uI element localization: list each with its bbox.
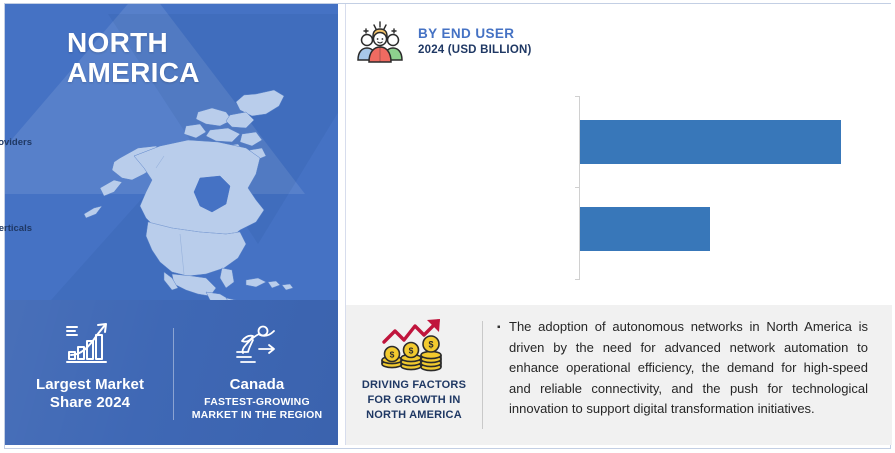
region-stats-bar: Largest Market Share 2024 bbox=[5, 300, 338, 445]
north-america-map-icon bbox=[60, 82, 335, 307]
stat-largest-market-share: Largest Market Share 2024 bbox=[11, 318, 169, 412]
driving-factors-title-line3: NORTH AMERICA bbox=[346, 408, 482, 423]
driving-factors-title: DRIVING FACTORS FOR GROWTH IN NORTH AMER… bbox=[346, 378, 482, 423]
bar-service-providers bbox=[580, 120, 841, 164]
driving-factors-text: The adoption of autonomous networks in N… bbox=[509, 317, 868, 420]
region-title-line1: NORTH bbox=[67, 28, 200, 58]
bar-category-label: Service Providers bbox=[0, 137, 32, 148]
driving-factors-body: ▪ The adoption of autonomous networks in… bbox=[483, 305, 892, 430]
svg-text:$: $ bbox=[409, 346, 414, 356]
infographic-figure: NORTH AMERICA bbox=[0, 0, 895, 453]
svg-text:$: $ bbox=[428, 340, 433, 350]
axis-tick bbox=[575, 279, 580, 280]
stats-divider bbox=[173, 328, 174, 420]
stat-country-name: Canada bbox=[181, 376, 333, 394]
coins-growth-arrow-icon: $ $ bbox=[346, 313, 482, 375]
axis-tick bbox=[575, 96, 580, 97]
bar-verticals bbox=[580, 207, 710, 251]
stat-largest-market-title: Largest Market Share 2024 bbox=[11, 376, 169, 412]
flying-person-arrow-icon bbox=[181, 318, 333, 370]
bullet-glyph: ▪ bbox=[497, 317, 509, 420]
region-title: NORTH AMERICA bbox=[67, 28, 200, 88]
stat-subtitle-line2: MARKET IN THE REGION bbox=[181, 409, 333, 422]
stat-country-subtitle: FASTEST-GROWING MARKET IN THE REGION bbox=[181, 396, 333, 422]
stat-title-line2: Share 2024 bbox=[11, 394, 169, 412]
bar-category-label: Verticals bbox=[0, 223, 32, 234]
stat-fastest-growing-country: Canada FASTEST-GROWING MARKET IN THE REG… bbox=[181, 318, 333, 422]
region-panel: NORTH AMERICA bbox=[5, 4, 338, 445]
chart-panel: BY END USER 2024 (USD BILLION) Service P… bbox=[345, 4, 892, 305]
stat-title-line1: Largest Market bbox=[11, 376, 169, 394]
axis-tick bbox=[575, 187, 580, 188]
svg-text:$: $ bbox=[390, 350, 395, 360]
driving-factors-title-line1: DRIVING FACTORS bbox=[346, 378, 482, 393]
driving-factors-panel: $ $ bbox=[345, 305, 892, 445]
driving-factors-title-line2: FOR GROWTH IN bbox=[346, 393, 482, 408]
stat-subtitle-line1: FASTEST-GROWING bbox=[181, 396, 333, 409]
driving-factors-label: $ $ bbox=[346, 305, 482, 423]
bar-chart-plot: Service Providers Verticals bbox=[346, 4, 892, 305]
growth-chart-arrow-icon bbox=[11, 318, 169, 370]
